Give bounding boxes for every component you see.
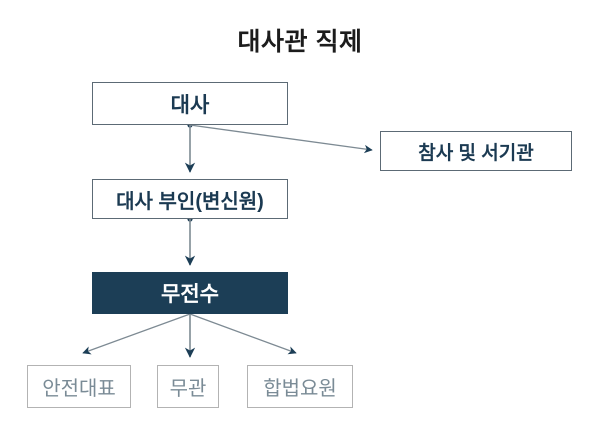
node-counselor[interactable]: 참사 및 서기관: [380, 131, 572, 171]
node-military-attache[interactable]: 무관: [157, 365, 219, 408]
node-legal-agent[interactable]: 합법요원: [247, 365, 353, 408]
edge-radio-operator-to-security-rep: [83, 314, 190, 353]
node-ambassador-wife-label: 대사 부인(변신원): [116, 185, 264, 214]
org-chart-diagram: 대사관 직제 대사 참사 및 서기관 대사 부인(변신원) 무전수: [0, 0, 600, 432]
node-ambassador-label: 대사: [171, 89, 210, 119]
node-legal-agent-label: 합법요원: [263, 372, 337, 401]
edge-ambassador-to-counselor: [190, 125, 372, 150]
node-radio-operator[interactable]: 무전수: [92, 272, 288, 314]
node-counselor-label: 참사 및 서기관: [418, 138, 533, 165]
edge-radio-operator-to-legal-agent: [190, 314, 296, 353]
node-ambassador-wife[interactable]: 대사 부인(변신원): [92, 179, 288, 219]
node-ambassador[interactable]: 대사: [92, 82, 288, 125]
node-security-rep[interactable]: 안전대표: [27, 365, 131, 408]
node-military-attache-label: 무관: [170, 372, 207, 401]
node-security-rep-label: 안전대표: [42, 372, 116, 401]
node-radio-operator-label: 무전수: [161, 278, 219, 308]
